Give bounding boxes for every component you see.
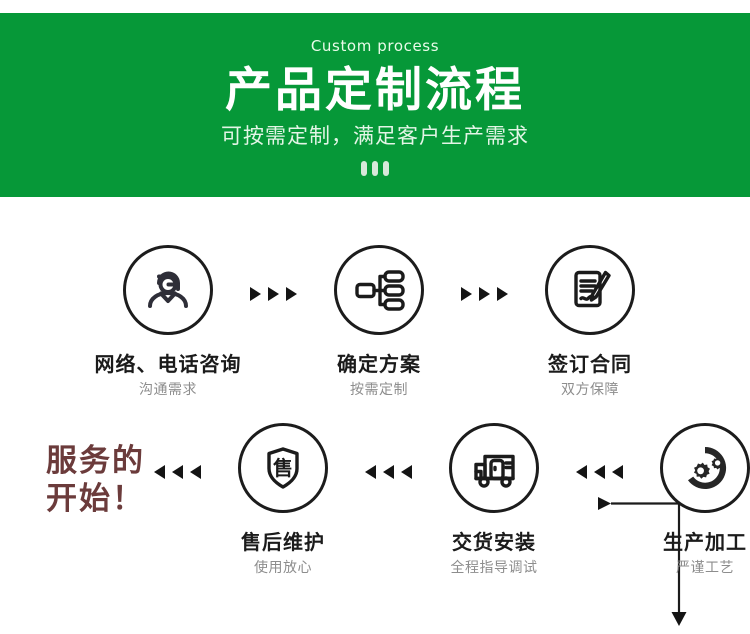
triangle-left-icon <box>612 465 623 479</box>
arrow-cluster-left-2 <box>365 465 412 479</box>
flow-row-top: 网络、电话咨询 沟通需求 确定方案 <box>0 245 750 397</box>
triangle-left-icon <box>154 465 165 479</box>
flow-row-bottom: 服务的 开始！ 售 售后维护 使用放心 <box>0 423 750 575</box>
triangle-left-icon <box>172 465 183 479</box>
step-desc: 双方保障 <box>561 383 619 397</box>
triangle-left-icon <box>401 465 412 479</box>
gears-icon <box>660 423 750 513</box>
step-production[interactable]: 生产加工 严谨工艺 <box>625 423 750 575</box>
triangle-right-icon <box>461 287 472 301</box>
contract-pen-icon <box>545 245 635 335</box>
arrow-cluster-right-1 <box>250 287 297 301</box>
flow-chart-icon <box>334 245 424 335</box>
step-desc: 严谨工艺 <box>676 561 734 575</box>
service-start-line-1: 服务的 <box>46 443 170 481</box>
triangle-left-icon <box>190 465 201 479</box>
triangle-left-icon <box>383 465 394 479</box>
step-title: 售后维护 <box>241 532 325 552</box>
arrow-cluster-right-2 <box>461 287 508 301</box>
headset-person-icon <box>123 245 213 335</box>
triangle-right-icon <box>286 287 297 301</box>
banner-english-label: Custom process <box>311 39 439 54</box>
step-after-sales[interactable]: 售 售后维护 使用放心 <box>203 423 363 575</box>
step-delivery[interactable]: 交货安装 全程指导调试 <box>414 423 574 575</box>
step-contract[interactable]: 签订合同 双方保障 <box>510 245 670 397</box>
step-title: 确定方案 <box>337 354 421 374</box>
banner-dot-3 <box>383 161 389 176</box>
step-desc: 按需定制 <box>350 383 408 397</box>
step-desc: 使用放心 <box>254 561 312 575</box>
process-flow: 网络、电话咨询 沟通需求 确定方案 <box>0 197 750 634</box>
triangle-right-icon <box>479 287 490 301</box>
arrow-cluster-left-1 <box>154 465 201 479</box>
step-desc: 全程指导调试 <box>451 561 538 575</box>
arrow-cluster-left-3 <box>576 465 623 479</box>
triangle-right-icon <box>268 287 279 301</box>
banner-dot-1 <box>361 161 367 176</box>
banner-title: 产品定制流程 <box>225 66 525 117</box>
shield-glyph-label: 售 <box>273 456 293 480</box>
triangle-left-icon <box>576 465 587 479</box>
triangle-right-icon <box>497 287 508 301</box>
triangle-left-icon <box>365 465 376 479</box>
banner-dots-decoration <box>361 161 389 176</box>
step-title: 交货安装 <box>452 532 536 552</box>
banner-dot-2 <box>372 161 378 176</box>
service-start-line-2: 开始！ <box>46 481 170 519</box>
step-desc: 沟通需求 <box>139 383 197 397</box>
service-start-text: 服务的 开始！ <box>0 443 170 519</box>
step-title: 签订合同 <box>548 354 632 374</box>
triangle-right-icon <box>250 287 261 301</box>
triangle-left-icon <box>594 465 605 479</box>
custom-process-page: Custom process 产品定制流程 可按需定制，满足客户生产需求 <box>0 0 750 634</box>
header-banner: Custom process 产品定制流程 可按需定制，满足客户生产需求 <box>0 13 750 197</box>
shield-service-icon: 售 <box>238 423 328 513</box>
banner-subtitle: 可按需定制，满足客户生产需求 <box>221 126 529 147</box>
step-title: 网络、电话咨询 <box>95 354 242 374</box>
step-plan[interactable]: 确定方案 按需定制 <box>299 245 459 397</box>
step-title: 生产加工 <box>663 532 747 552</box>
delivery-truck-icon <box>449 423 539 513</box>
step-consultation[interactable]: 网络、电话咨询 沟通需求 <box>88 245 248 397</box>
